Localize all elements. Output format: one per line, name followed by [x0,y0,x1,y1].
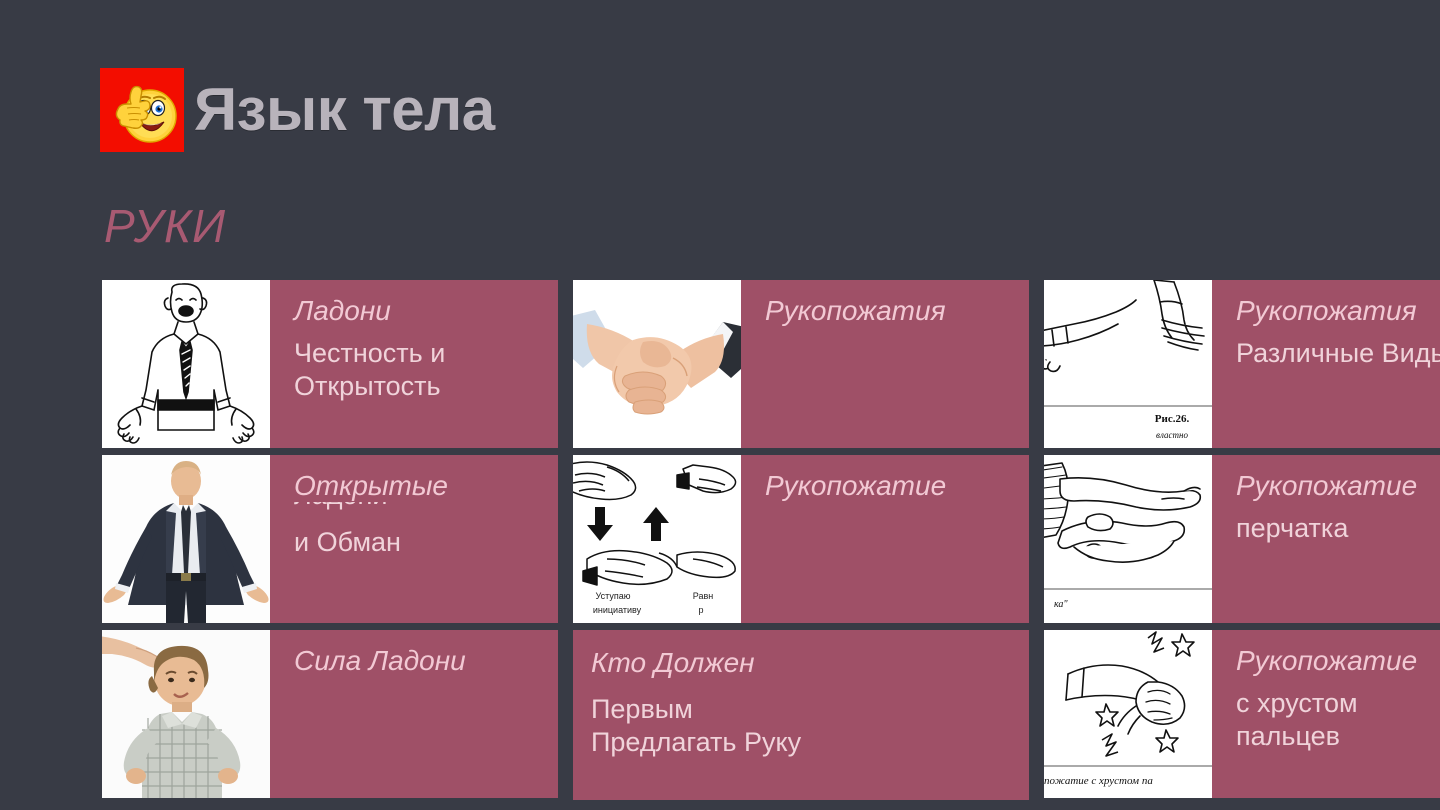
tile-text: Рукопожатие [741,455,1029,623]
two-handed-handshake-lineart: ка" [1044,455,1212,623]
man-suit-open-arms-photo [102,455,270,623]
svg-text:инициативу: инициативу [593,605,642,615]
tile-rukopozhatie-hrust[interactable]: пожатие с хрустом па Рукопожатие с хруст… [1044,630,1440,798]
handshake-offer-lineart: Рис.26. властно [1044,280,1212,448]
tile-title: Рукопожатие [765,469,1029,502]
tile-subtitle: с хрустом пальцев [1236,687,1440,753]
tile-rukopozhatie-initsiativa[interactable]: Уступаю инициативу Равн р Рукопожатие [573,455,1029,623]
tile-title: Рукопожатия [1236,294,1440,327]
svg-text:пожатие с хрустом па: пожатие с хрустом па [1044,775,1153,787]
tile-subtitle: и Обман [294,526,558,559]
tile-rukopozhatiya-vidy[interactable]: Рис.26. властно Рукопожатия Различные Ви… [1044,280,1440,448]
tile-rukopozhatie-perchatka[interactable]: ка" Рукопожатие перчатка [1044,455,1440,623]
tile-text: Открытые Ладони и Обман [270,455,558,623]
tile-text: Ладони Честность и Открытость [270,280,558,448]
smiley-thumbs-up-icon [100,68,184,152]
tile-title: Открытые [294,469,558,502]
section-heading: РУКИ [104,203,226,249]
tile-column-1: Ладони Честность и Открытость [102,280,558,798]
clipped-text: Ладони [294,502,388,511]
tile-grid: Ладони Честность и Открытость [102,280,1440,800]
tile-column-3: Рис.26. властно Рукопожатия Различные Ви… [1044,280,1440,798]
svg-text:Уступаю: Уступаю [596,591,631,601]
tile-text: Кто Должен Первым Предлагать Руку [573,630,1029,800]
svg-text:властно: властно [1156,430,1188,440]
tile-text: Сила Ладони [270,630,558,798]
finger-crunch-handshake-lineart: пожатие с хрустом па [1044,630,1212,798]
tile-text: Рукопожатия Различные Виды [1212,280,1440,448]
tile-subtitle: перчатка [1236,512,1440,545]
handshake-arrows-lineart: Уступаю инициативу Равн р [573,455,741,623]
tile-rukopozhatiya[interactable]: Рукопожатия [573,280,1029,448]
tile-subtitle: Различные Виды [1236,337,1440,370]
clipped-text-line: Ладони [294,502,558,516]
svg-text:Равн: Равн [693,591,713,601]
tile-column-2: Рукопожатия [573,280,1029,800]
tile-ladoni[interactable]: Ладони Честность и Открытость [102,280,558,448]
tile-title: Рукопожатие [1236,469,1440,502]
tile-title: Рукопожатие [1236,644,1440,677]
tile-sila-ladoni[interactable]: Сила Ладони [102,630,558,798]
man-open-palms-lineart-icon [102,280,270,448]
tile-title: Ладони [294,294,558,327]
tile-subtitle: Честность и Открытость [294,337,558,403]
svg-text:Рис.26.: Рис.26. [1155,413,1190,425]
tile-title: Сила Ладони [294,644,558,677]
app-header: Язык тела [100,68,495,152]
handshake-photo [573,280,741,448]
tile-title: Кто Должен [591,646,1029,679]
tile-title: Рукопожатия [765,294,1029,327]
tile-text: Рукопожатие с хрустом пальцев [1212,630,1440,798]
svg-text:ка": ка" [1054,599,1068,610]
tile-otkrytye[interactable]: Открытые Ладони и Обман [102,455,558,623]
child-hands-on-hips-photo [102,630,270,798]
tile-subtitle: Первым Предлагать Руку [591,693,1029,759]
tile-text: Рукопожатие перчатка [1212,455,1440,623]
svg-text:р: р [698,605,703,615]
tile-text: Рукопожатия [741,280,1029,448]
tile-kto-dolzhen[interactable]: Кто Должен Первым Предлагать Руку [573,630,1029,800]
page-title: Язык тела [194,80,495,140]
